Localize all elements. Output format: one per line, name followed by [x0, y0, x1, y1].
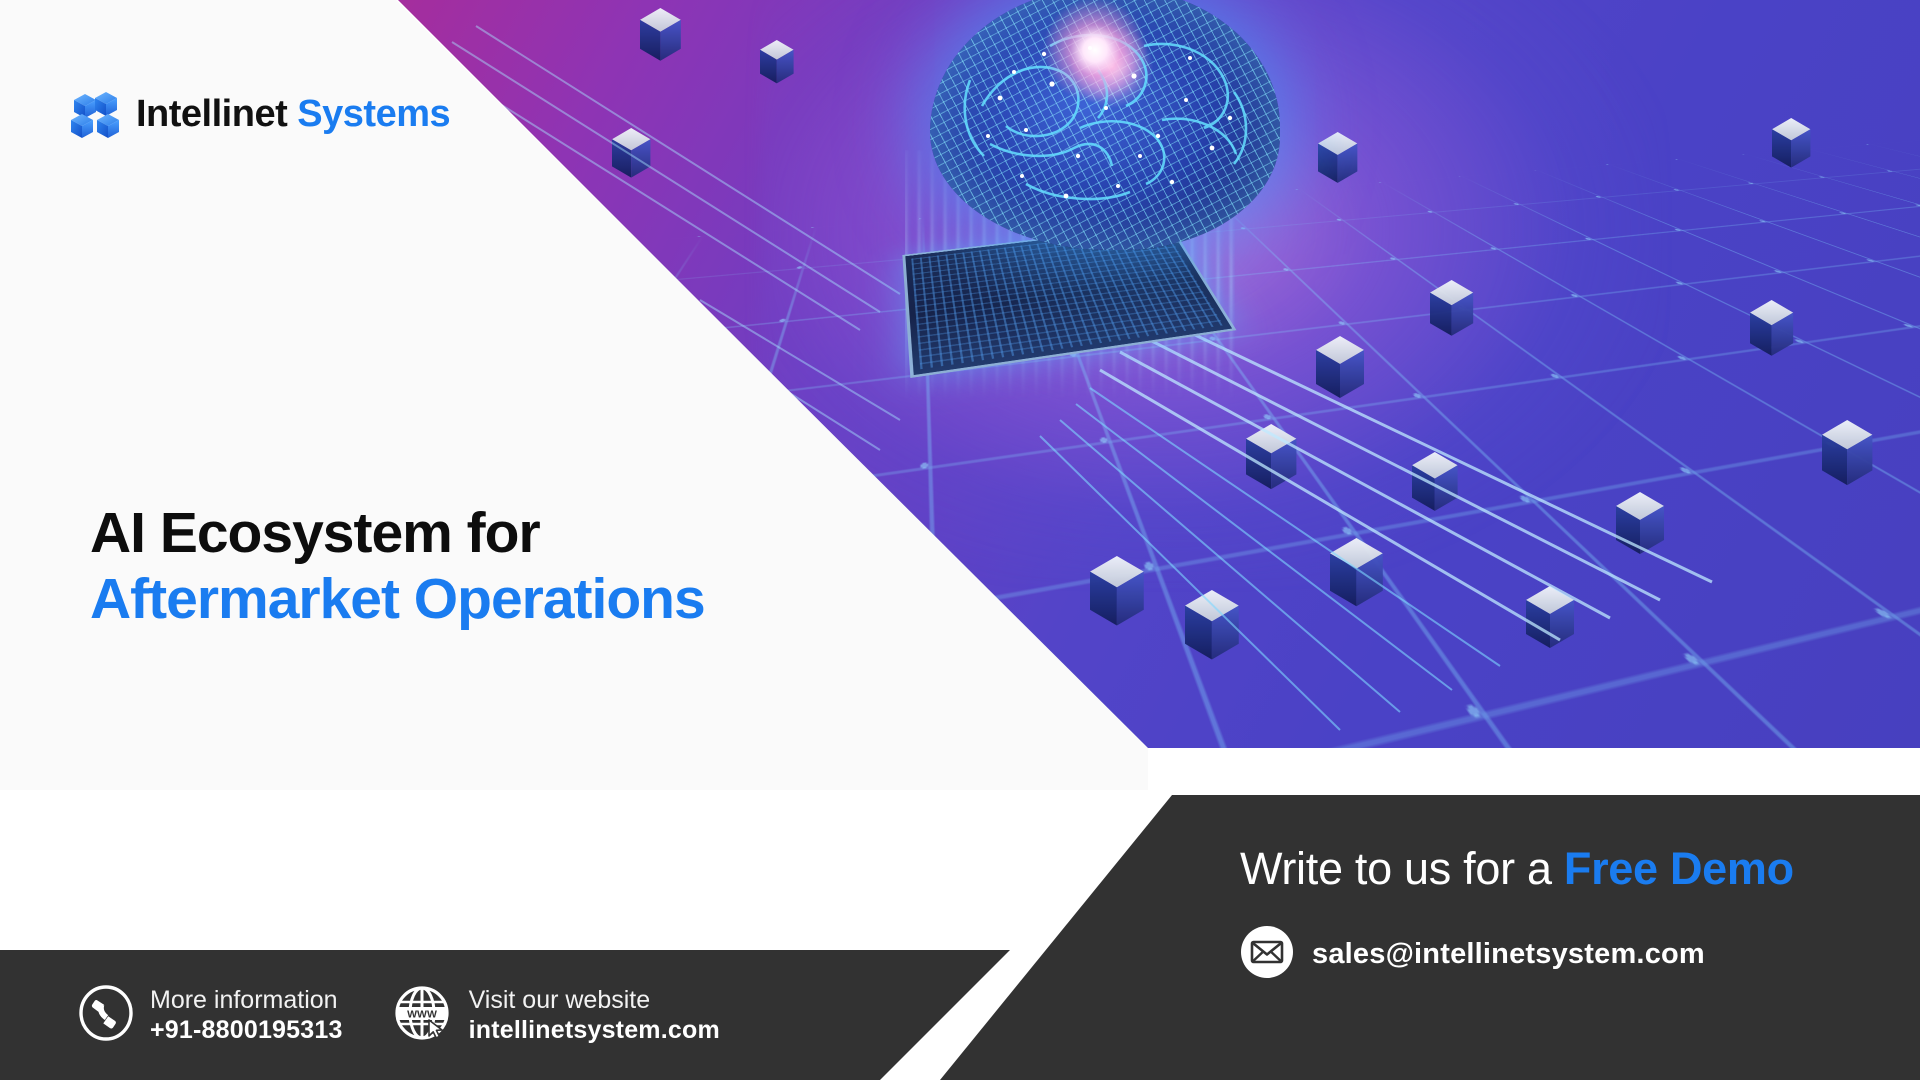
ai-brain-icon: [930, 0, 1280, 250]
globe-www-icon: WWW: [391, 982, 453, 1049]
contact-website-text: Visit our website intellinetsystem.com: [469, 985, 720, 1046]
contact-email[interactable]: sales@intellinetsystem.com: [1240, 925, 1705, 984]
page-title: AI Ecosystem for Aftermarket Operations: [90, 500, 705, 632]
brand-name-systems: Systems: [297, 93, 450, 135]
brand-name-intellinet: Intellinet: [136, 93, 287, 135]
contact-bar: More information +91-8800195313 WWW: [0, 950, 1075, 1080]
contact-phone-label: More information: [150, 985, 343, 1016]
contact-phone-text: More information +91-8800195313: [150, 985, 343, 1046]
phone-icon: [78, 985, 134, 1046]
headline-line-2: Aftermarket Operations: [90, 566, 705, 632]
demo-title-accent: Free Demo: [1564, 843, 1794, 894]
contact-website[interactable]: WWW Visit our website intellinetsystem.c…: [391, 982, 720, 1049]
brand-logo-text: Intellinet Systems: [136, 95, 450, 133]
contact-phone-number: +91-8800195313: [150, 1015, 343, 1046]
free-demo-panel: Write to us for a Free Demo sales@intell…: [940, 795, 1920, 1080]
brand-logo[interactable]: Intellinet Systems: [70, 88, 450, 140]
demo-panel-title: Write to us for a Free Demo: [1240, 843, 1794, 895]
headline-line-1: AI Ecosystem for: [90, 500, 705, 566]
contact-email-address: sales@intellinetsystem.com: [1312, 938, 1705, 971]
marketing-banner: Intellinet Systems AI Ecosystem for Afte…: [0, 0, 1920, 1080]
hexagon-cluster-icon: [70, 88, 122, 140]
brain-specks: [930, 0, 1280, 250]
contact-website-label: Visit our website: [469, 985, 720, 1016]
contact-website-url: intellinetsystem.com: [469, 1015, 720, 1046]
svg-text:WWW: WWW: [407, 1008, 437, 1020]
contact-phone[interactable]: More information +91-8800195313: [78, 985, 343, 1046]
envelope-icon: [1240, 925, 1294, 984]
demo-title-plain: Write to us for a: [1240, 843, 1564, 894]
